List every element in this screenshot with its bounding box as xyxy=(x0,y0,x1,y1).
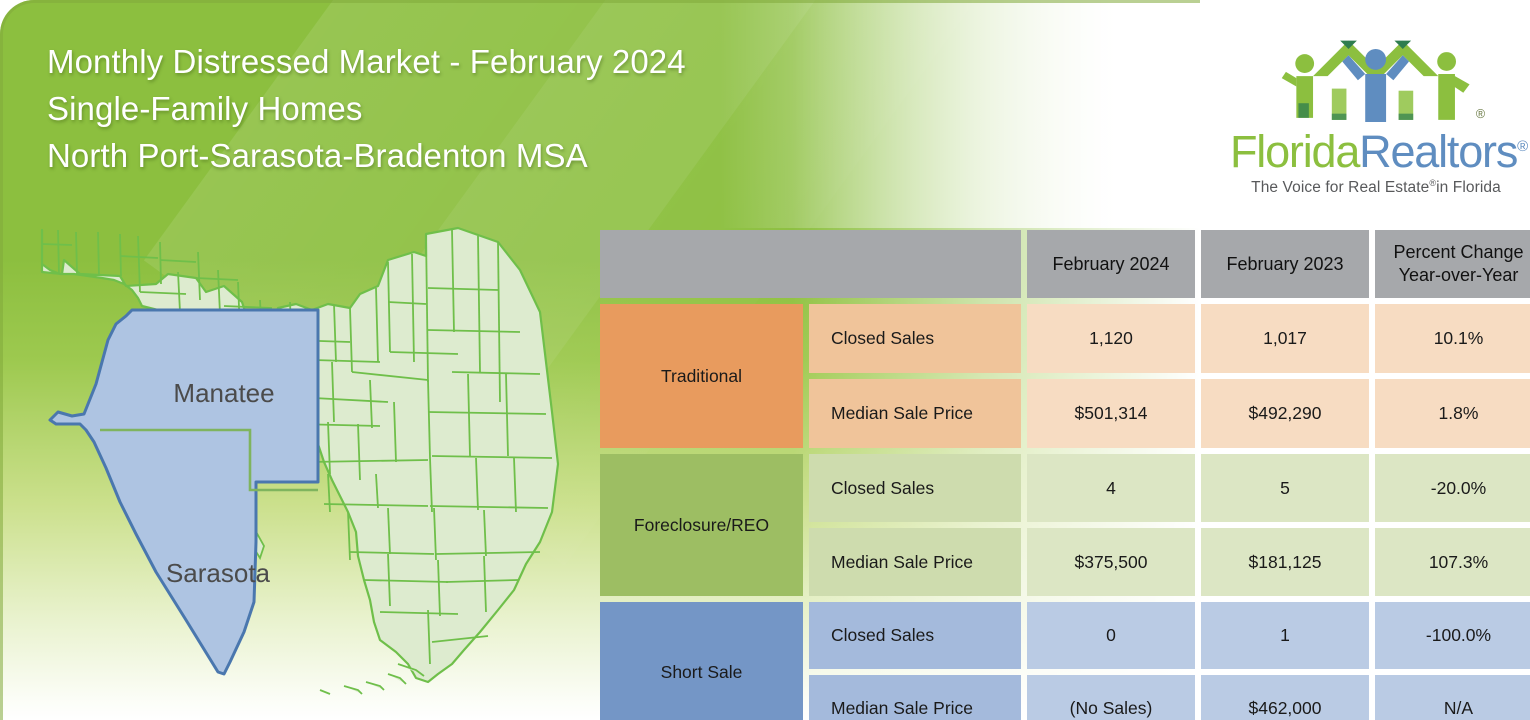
metric-label: Median Sale Price xyxy=(809,675,1021,720)
table-cell-value: $501,314 xyxy=(1027,379,1195,448)
value-text: N/A xyxy=(1444,698,1473,719)
value-text: (No Sales) xyxy=(1070,698,1153,719)
value-text: 10.1% xyxy=(1434,328,1484,349)
table-cell-value: N/A xyxy=(1375,675,1530,720)
metric-text: Median Sale Price xyxy=(831,403,973,424)
value-text: $462,000 xyxy=(1249,698,1322,719)
table-cell-value: 4 xyxy=(1027,454,1195,522)
title-line-1: Monthly Distressed Market - February 202… xyxy=(47,38,686,85)
header-label: February 2024 xyxy=(1052,253,1169,276)
header-label: February 2023 xyxy=(1226,253,1343,276)
table-cell-value: 1,017 xyxy=(1201,304,1369,373)
value-text: 1,017 xyxy=(1263,328,1307,349)
table-cell-value: 5 xyxy=(1201,454,1369,522)
value-text: $375,500 xyxy=(1075,552,1148,573)
table-cell-value: 1.8% xyxy=(1375,379,1530,448)
metric-label: Closed Sales xyxy=(809,304,1021,373)
table-cell-value: $375,500 xyxy=(1027,528,1195,596)
group-name: Foreclosure/REO xyxy=(634,515,769,536)
svg-text:®: ® xyxy=(1476,107,1486,121)
metric-text: Closed Sales xyxy=(831,625,934,646)
group-name: Short Sale xyxy=(661,662,743,683)
table-cell-value: 1 xyxy=(1201,602,1369,669)
page-title: Monthly Distressed Market - February 202… xyxy=(47,38,686,179)
table-cell-value: $462,000 xyxy=(1201,675,1369,720)
infographic-page: Monthly Distressed Market - February 202… xyxy=(0,0,1530,720)
county-label-manatee: Manatee xyxy=(173,378,274,408)
table-header-blank xyxy=(600,230,1021,298)
value-text: 1,120 xyxy=(1089,328,1133,349)
florida-realtors-logo: ® FloridaRealtors® The Voice for Real Es… xyxy=(1230,26,1522,204)
group-name: Traditional xyxy=(661,366,742,387)
metric-text: Closed Sales xyxy=(831,328,934,349)
table-header-feb-2024: February 2024 xyxy=(1027,230,1195,298)
florida-map: Manatee Sarasota xyxy=(28,212,594,704)
metric-text: Closed Sales xyxy=(831,478,934,499)
house-people-icon: ® xyxy=(1240,26,1511,122)
table-cell-value: 107.3% xyxy=(1375,528,1530,596)
table-cell-value: $492,290 xyxy=(1201,379,1369,448)
table-header-feb-2023: February 2023 xyxy=(1201,230,1369,298)
value-text: 0 xyxy=(1106,625,1116,646)
value-text: $501,314 xyxy=(1075,403,1148,424)
table-cell-value: -100.0% xyxy=(1375,602,1530,669)
table-cell-value: $181,125 xyxy=(1201,528,1369,596)
logo-tagline: The Voice for Real Estate®in Florida xyxy=(1230,178,1522,197)
tagline-text-2: in Florida xyxy=(1436,179,1501,196)
value-text: 107.3% xyxy=(1429,552,1488,573)
table-header-percent-change: Percent Change Year-over-Year xyxy=(1375,230,1530,298)
group-label-foreclosure-reo: Foreclosure/REO xyxy=(600,454,803,596)
logo-registered-mark: ® xyxy=(1517,138,1527,155)
value-text: -100.0% xyxy=(1426,625,1491,646)
title-line-3: North Port-Sarasota-Bradenton MSA xyxy=(47,132,686,179)
header-label: Percent Change Year-over-Year xyxy=(1393,241,1523,287)
metric-text: Median Sale Price xyxy=(831,552,973,573)
distressed-market-table: February 2024 February 2023 Percent Chan… xyxy=(600,230,1518,706)
tagline-text-1: The Voice for Real Estate xyxy=(1251,179,1429,196)
group-label-traditional: Traditional xyxy=(600,304,803,448)
value-text: -20.0% xyxy=(1431,478,1486,499)
value-text: 1 xyxy=(1280,625,1290,646)
value-text: $492,290 xyxy=(1249,403,1322,424)
value-text: 1.8% xyxy=(1439,403,1479,424)
logo-word-florida: Florida xyxy=(1230,126,1359,177)
table-cell-value: 1,120 xyxy=(1027,304,1195,373)
header-label-line2: Year-over-Year xyxy=(1399,265,1519,285)
metric-label: Closed Sales xyxy=(809,454,1021,522)
table-cell-value: 0 xyxy=(1027,602,1195,669)
value-text: 5 xyxy=(1280,478,1290,499)
value-text: $181,125 xyxy=(1249,552,1322,573)
group-label-short-sale: Short Sale xyxy=(600,602,803,720)
metric-label: Median Sale Price xyxy=(809,528,1021,596)
table-cell-value: -20.0% xyxy=(1375,454,1530,522)
header-label-line1: Percent Change xyxy=(1393,242,1523,262)
logo-word-realtors: Realtors xyxy=(1359,126,1517,177)
msa-county-inset: Manatee Sarasota xyxy=(50,310,318,674)
title-line-2: Single-Family Homes xyxy=(47,85,686,132)
metric-label: Median Sale Price xyxy=(809,379,1021,448)
county-label-sarasota: Sarasota xyxy=(166,558,271,588)
metric-label: Closed Sales xyxy=(809,602,1021,669)
table-cell-value: 10.1% xyxy=(1375,304,1530,373)
value-text: 4 xyxy=(1106,478,1116,499)
metric-text: Median Sale Price xyxy=(831,698,973,719)
logo-wordmark: FloridaRealtors® xyxy=(1230,124,1522,175)
table-cell-value: (No Sales) xyxy=(1027,675,1195,720)
